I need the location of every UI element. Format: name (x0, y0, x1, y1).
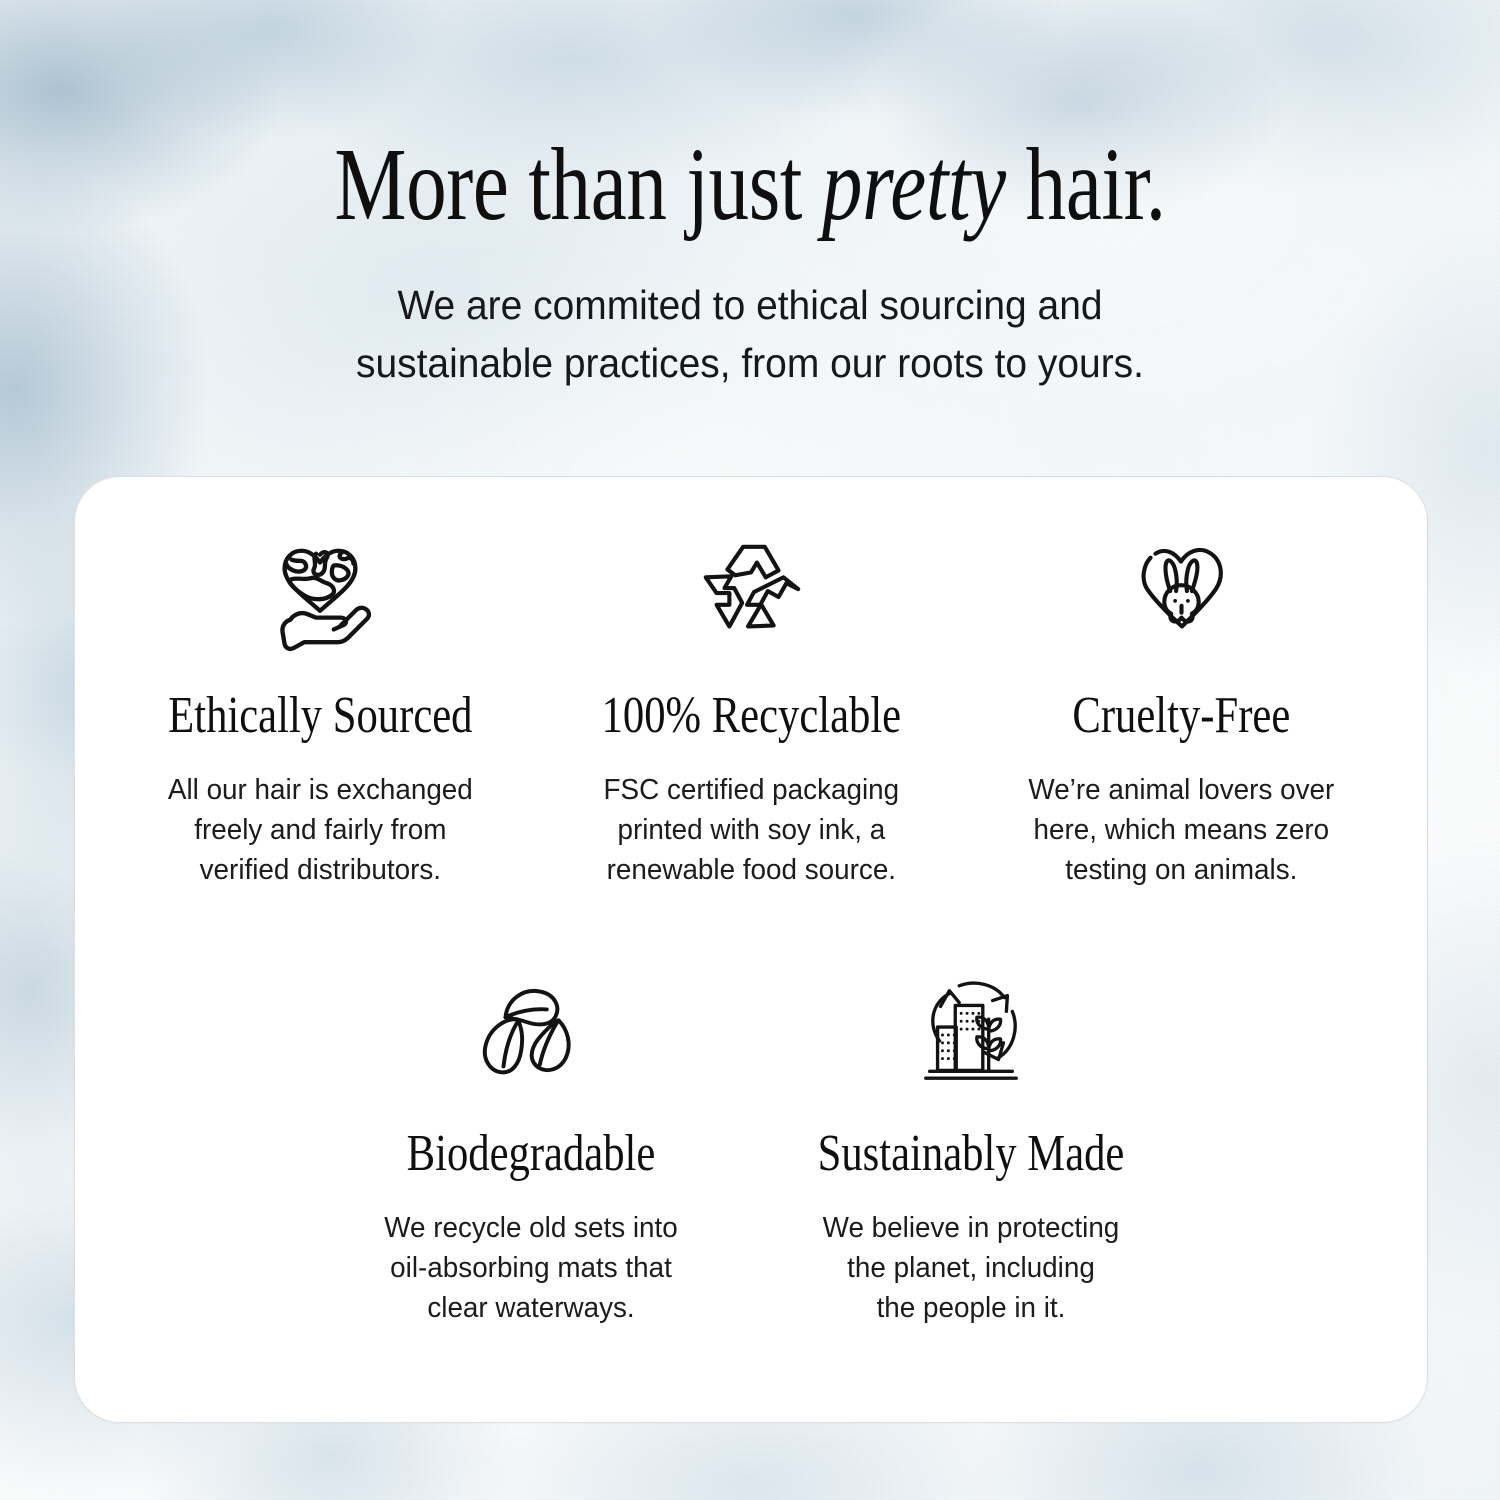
feature-biodegradable: Biodegradable We recycle old sets into o… (311, 967, 751, 1328)
subtitle-line-1: We are commited to ethical sourcing and (38, 276, 1463, 334)
headline-text-last: hair. (1006, 127, 1166, 242)
desc-line-3: testing on animals. (992, 850, 1371, 890)
feature-description: All our hair is exchanged freely and fai… (131, 770, 510, 890)
desc-line-3: the people in it. (777, 1288, 1165, 1328)
feature-recyclable: 100% Recyclable FSC certified packaging … (536, 529, 967, 890)
desc-line-1: FSC certified packaging (562, 770, 941, 810)
feature-title: Sustainably Made (805, 1125, 1136, 1182)
desc-line-2: here, which means zero (992, 810, 1371, 850)
desc-line-3: verified distributors. (131, 850, 510, 890)
desc-line-1: We believe in protecting (777, 1208, 1165, 1248)
feature-description: We believe in protecting the planet, inc… (777, 1208, 1165, 1328)
feature-title: 100% Recyclable (589, 687, 913, 744)
desc-line-2: oil-absorbing mats that (337, 1248, 725, 1288)
feature-title: Biodegradable (365, 1125, 696, 1182)
feature-title: Cruelty-Free (1020, 687, 1344, 744)
subtitle-line-2: sustainable practices, from our roots to… (38, 334, 1463, 392)
desc-line-1: We recycle old sets into (337, 1208, 725, 1248)
feature-cruelty-free: Cruelty-Free We’re animal lovers over he… (966, 529, 1397, 890)
desc-line-3: clear waterways. (337, 1288, 725, 1328)
desc-line-3: renewable food source. (562, 850, 941, 890)
features-card: Ethically Sourced All our hair is exchan… (74, 476, 1428, 1423)
desc-line-1: All our hair is exchanged (131, 770, 510, 810)
headline-text-first: More than just (334, 127, 822, 242)
desc-line-1: We’re animal lovers over (992, 770, 1371, 810)
bunny-in-heart-icon (984, 529, 1379, 661)
desc-line-2: printed with soy ink, a (562, 810, 941, 850)
feature-sustainably-made: Sustainably Made We believe in protectin… (751, 967, 1191, 1328)
page-subtitle: We are commited to ethical sourcing and … (38, 276, 1463, 392)
headline-emphasis-pretty: pretty (822, 127, 1006, 242)
sustainability-promo-page: More than just pretty hair. We are commi… (0, 0, 1500, 1500)
page-header: More than just pretty hair. We are commi… (0, 0, 1500, 393)
feature-title: Ethically Sourced (159, 687, 483, 744)
buildings-plant-arrows-icon (769, 967, 1173, 1099)
recycle-arrows-icon (554, 529, 949, 661)
three-leaves-recycle-icon (329, 967, 733, 1099)
page-title: More than just pretty hair. (165, 132, 1335, 238)
heart-globe-in-hand-icon (123, 529, 518, 661)
feature-description: We recycle old sets into oil-absorbing m… (337, 1208, 725, 1328)
feature-description: We’re animal lovers over here, which mea… (992, 770, 1371, 890)
feature-description: FSC certified packaging printed with soy… (562, 770, 941, 890)
feature-ethically-sourced: Ethically Sourced All our hair is exchan… (105, 529, 536, 890)
desc-line-2: the planet, including (777, 1248, 1165, 1288)
features-row-bottom: Biodegradable We recycle old sets into o… (75, 967, 1427, 1328)
features-row-top: Ethically Sourced All our hair is exchan… (75, 477, 1427, 890)
desc-line-2: freely and fairly from (131, 810, 510, 850)
